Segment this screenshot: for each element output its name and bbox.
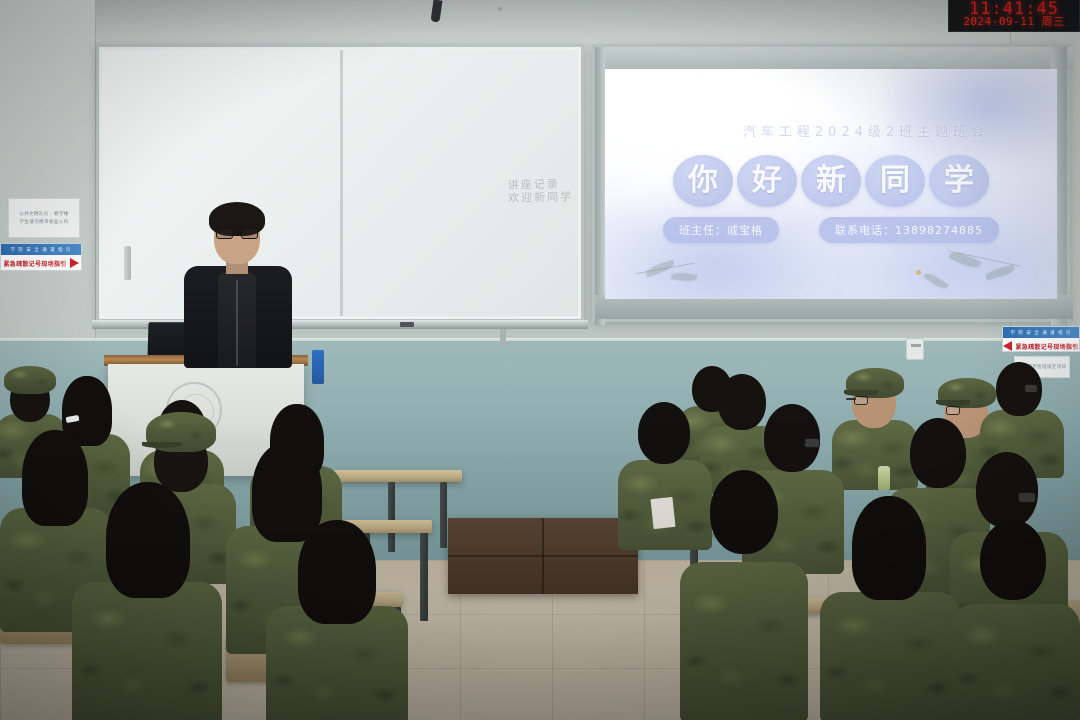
water-bottle-icon [312,350,324,384]
student-l8 [72,482,222,720]
right-banner-body: 紧急疏散记号现场指引 [1003,338,1079,352]
ceiling-sensor-icon [498,7,502,11]
hero-char-3: 新 [816,166,846,196]
slide-title: 汽车工程2024级2班主题班会 [605,121,1057,140]
student-hair [298,520,376,624]
hero-char-1: 你 [688,166,718,196]
glasses-bridge [233,232,241,234]
left-banner-body: 紧急疏散记号现场指引 [1,255,81,271]
cabinet-divider-horizontal [448,555,638,557]
hero-bubble-2: 好 [737,155,797,207]
glasses-lens [946,406,960,415]
right-banner-body-text: 紧急疏散记号现场指引 [1015,342,1078,351]
glasses-lens [1018,492,1036,503]
berry-icon [916,270,921,275]
glasses-lens [1024,384,1038,393]
marker-icon [400,322,414,327]
desk-leg [440,482,447,548]
pill-contact-phone: 联系电话：13898274885 [819,217,999,243]
led-clock-display: 11:41:45 2024-09-11 周三 [948,0,1080,32]
watercolor-wash-bottom-left [605,193,855,299]
speaker-jacket-zipper [236,280,238,366]
left-banner-body-text: 紧急疏散记号现场指引 [3,259,66,268]
hero-char-2: 好 [752,166,782,196]
wall-outlet-icon [906,338,924,360]
pill-homeroom-teacher: 班主任：戚宝格 [663,217,779,243]
speaker-presenter [176,196,300,368]
paper-sheet [650,497,675,529]
classroom-photo-scene: 11:41:45 2024-09-11 周三 讲座记录 欢迎新同学 汽车工程20… [0,0,1080,720]
clock-time: 11:41:45 [969,2,1059,16]
left-notice-line-2: 学生请勿携带食品入内 [20,219,69,225]
ceiling-shadow [0,0,1080,40]
whiteboard-clip-icon [124,246,131,280]
cap-brim [142,442,182,448]
slide-content: 汽车工程2024级2班主题班会 你 好 新 同 学 班主任 [605,69,1057,299]
arrow-left-icon [1003,341,1012,351]
projection-screen: 汽车工程2024级2班主题班会 你 好 新 同 学 班主任 [592,44,1070,322]
left-notice-line-1: 公共文明礼仪 · 教学楼 [19,211,69,217]
watercolor-wash-top-right [887,69,1057,163]
clock-date: 2024-09-11 周三 [963,16,1064,28]
student-head [980,520,1046,600]
left-wayfinding-banner: 学 院 安 全 通 道 指 引 紧急疏散记号现场指引 [0,243,82,271]
glasses-icon [216,228,258,239]
student-hair [852,496,926,600]
left-notice-sign: 公共文明礼仪 · 教学楼 学生请勿携带食品入内 [8,198,80,238]
hero-bubble-4: 同 [865,155,925,207]
student-head [710,470,778,554]
hero-bubble-5: 学 [929,155,989,207]
student-uniform [680,562,808,720]
arrow-right-icon [70,258,79,268]
screen-frame-left [595,47,605,325]
whiteboard: 讲座记录 欢迎新同学 [96,44,584,322]
student-uniform [820,592,960,720]
student-head [638,402,690,464]
glasses-arm [846,398,856,400]
desk-left-1 [334,470,462,482]
whiteboard-ghost-writing: 讲座记录 欢迎新同学 [508,177,574,205]
screen-frame-top [595,47,1073,69]
glasses-arm [794,441,806,443]
left-banner-strip: 学 院 安 全 通 道 指 引 [1,244,81,255]
glasses-lens [804,438,820,448]
storage-cabinet [448,518,638,594]
right-banner-strip-text: 学 院 安 全 通 道 指 引 [1010,330,1071,336]
student-r11 [820,496,960,720]
water-bottle-icon [878,466,890,490]
glasses-lens-right [241,228,258,239]
student-uniform [952,604,1080,720]
desk-leg [420,533,428,621]
glasses-lens [854,396,868,405]
student-head [976,452,1038,528]
hero-char-4: 同 [880,166,910,196]
slide-hero-row: 你 好 新 同 学 [605,155,1057,207]
student-r12 [952,520,1080,720]
student-l9 [266,520,408,720]
left-wall-panel [0,0,96,348]
whiteboard-surface: 讲座记录 欢迎新同学 [102,50,578,316]
student-uniform [72,582,222,720]
left-banner-strip-text: 学 院 安 全 通 道 指 引 [10,247,71,253]
outlet-slot [911,344,921,347]
hero-bubble-1: 你 [673,155,733,207]
right-wayfinding-banner: 学 院 安 全 通 道 指 引 紧急疏散记号现场指引 [1002,326,1080,352]
hero-bubble-3: 新 [801,155,861,207]
glasses-lens-left [216,228,233,239]
student-r10 [680,470,808,720]
right-banner-strip: 学 院 安 全 通 道 指 引 [1003,327,1079,338]
hero-char-5: 学 [944,166,974,196]
student-hair [106,482,190,598]
slide-info-pills: 班主任：戚宝格 联系电话：13898274885 [605,217,1057,243]
whiteboard-panel-divider [340,50,343,316]
whiteboard-leg-right [500,329,506,345]
